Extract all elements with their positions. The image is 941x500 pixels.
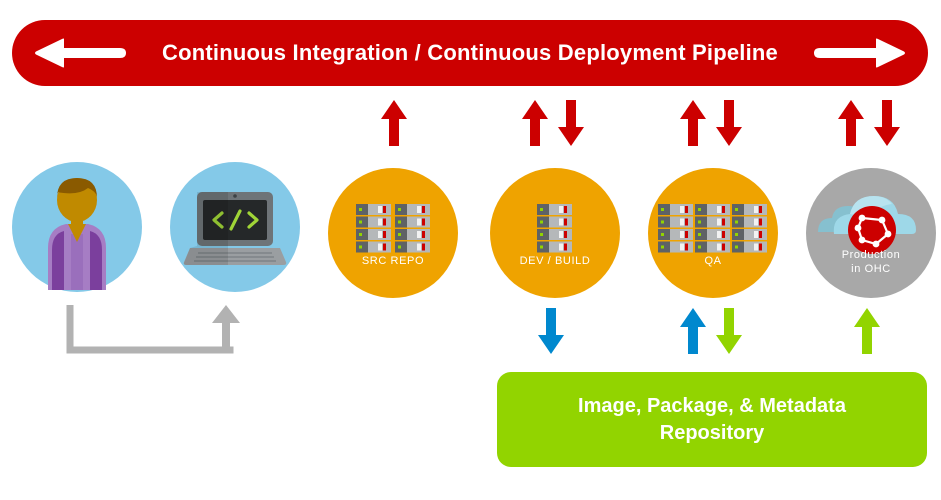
node-workstation[interactable] — [170, 162, 300, 292]
repository-label-line2: Repository — [660, 420, 764, 447]
node-qa[interactable]: QA — [648, 168, 778, 298]
node-production[interactable]: Production in OHC — [806, 168, 936, 298]
repository-label-line1: Image, Package, & Metadata — [578, 393, 846, 420]
pipeline-banner: Continuous Integration / Continuous Depl… — [12, 20, 928, 86]
arrow-down-icon-dev-build-to-repo — [537, 308, 565, 354]
arrow-down-icon-qa-to-repo — [715, 308, 743, 354]
node-label-production-line1: Production — [806, 248, 936, 262]
node-dev-build[interactable]: DEV / BUILD — [490, 168, 620, 298]
arrow-up-icon-qa — [679, 100, 707, 146]
arrow-up-icon-src-repo — [380, 100, 408, 146]
repository-label: Image, Package, & Metadata Repository — [497, 372, 927, 467]
server-rack-icon — [490, 168, 620, 298]
elbow-arrow-up-icon — [60, 305, 255, 360]
arrow-up-icon-dev-build — [521, 100, 549, 146]
server-rack-icon — [648, 168, 778, 298]
arrow-up-icon-repo-to-qa — [679, 308, 707, 354]
arrow-right-icon — [814, 38, 906, 68]
arrow-up-icon-production — [837, 100, 865, 146]
arrow-down-icon-dev-build — [557, 100, 585, 146]
repository-box[interactable]: Image, Package, & Metadata Repository — [497, 372, 927, 467]
arrow-up-icon-repo-to-production — [853, 308, 881, 354]
node-src-repo[interactable]: SRC REPO — [328, 168, 458, 298]
pipeline-banner-title: Continuous Integration / Continuous Depl… — [12, 20, 928, 86]
person-icon — [12, 162, 142, 292]
laptop-code-icon — [170, 162, 300, 292]
server-rack-icon — [328, 168, 458, 298]
node-developer[interactable] — [12, 162, 142, 292]
node-label-qa: QA — [648, 254, 778, 268]
arrow-down-icon-qa — [715, 100, 743, 146]
cloud-openshift-icon — [806, 168, 936, 298]
node-label-src-repo: SRC REPO — [328, 254, 458, 268]
node-label-production-line2: in OHC — [806, 262, 936, 276]
node-label-dev-build: DEV / BUILD — [490, 254, 620, 268]
node-label-production: Production in OHC — [806, 248, 936, 276]
cicd-pipeline-diagram: Continuous Integration / Continuous Depl… — [0, 0, 941, 500]
arrow-down-icon-production — [873, 100, 901, 146]
